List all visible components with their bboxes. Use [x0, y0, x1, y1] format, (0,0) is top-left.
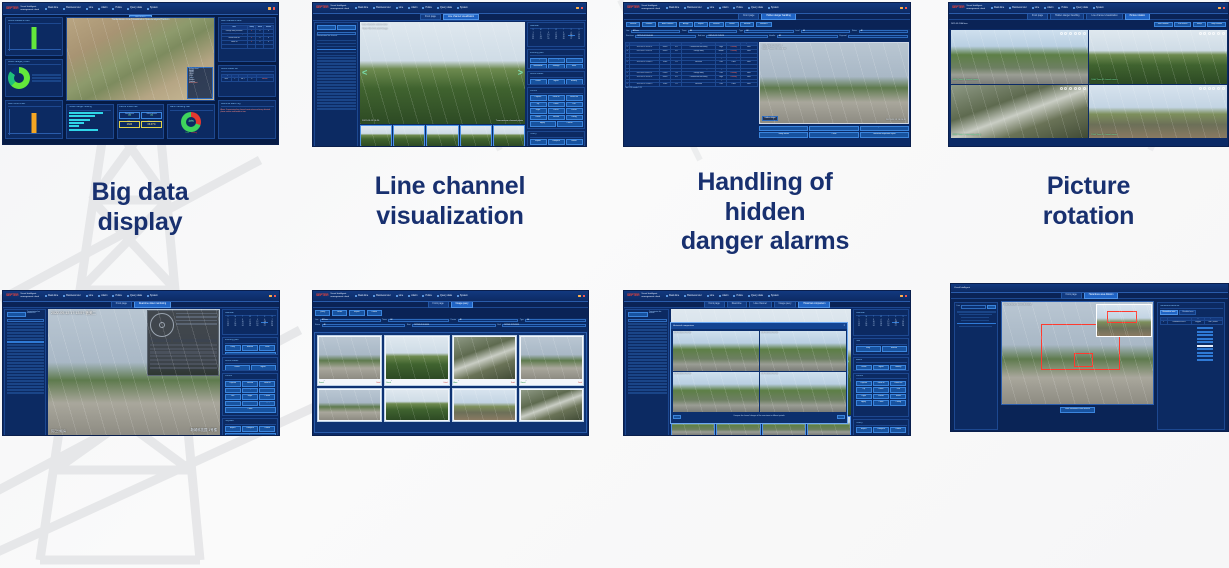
ctrl-btn-5[interactable]: Left — [890, 387, 906, 393]
ctrl-btn-8[interactable]: Reset — [890, 394, 906, 400]
ctrl-btn-11[interactable]: Config — [566, 115, 583, 121]
ctrl-btn-9[interactable]: Reset — [225, 401, 241, 407]
ctrl-btn-1[interactable]: Record — [242, 381, 258, 387]
picture-rotation-window[interactable]: SEPTER Visual Intelligentmanagement clou… — [948, 2, 1229, 147]
toolbar-btn-2[interactable]: Batch confirm — [658, 22, 678, 28]
ctrl-btn-6[interactable]: Right — [530, 108, 547, 114]
reference-thumbnail[interactable] — [1096, 304, 1152, 337]
main-nav[interactable]: Real-time Business tour Line Alarm Polic… — [45, 7, 268, 9]
ctrl-btn-13[interactable]: Cancel — [557, 121, 583, 127]
plan-btn-1[interactable]: Weekly — [548, 58, 565, 64]
hazard-area-table[interactable]: No. Area name Type Operation 1 Hazardous… — [1160, 317, 1223, 325]
nav-item-0[interactable]: Real-time — [355, 7, 368, 9]
alarm-stats-table[interactable]: Item Today Week Month Foreign body intru… — [221, 25, 274, 48]
card-thumbnail[interactable] — [386, 337, 447, 379]
ctrl-btn-6[interactable]: Right — [856, 394, 872, 400]
nav-item-2[interactable]: Line — [707, 295, 715, 297]
main-nav[interactable]: Real-time Business tour Line Alarm Polic… — [45, 295, 269, 297]
tab-image-query[interactable]: Image query — [774, 301, 797, 307]
ctrl-btn-1[interactable]: Zoom in — [873, 381, 889, 387]
nav-item-4[interactable]: Police — [112, 295, 122, 297]
nav-item-2[interactable]: Line — [86, 7, 94, 9]
plan-btn-1[interactable]: Manual — [242, 345, 258, 351]
nav-item-5[interactable]: Query data — [437, 7, 452, 9]
ctrl-btn-8[interactable]: Preset — [566, 108, 583, 114]
filmstrip-thumb[interactable] — [460, 125, 492, 147]
panel-control[interactable]: Control Capture Zoom in Zoom out Up Down… — [527, 87, 585, 129]
rotation-toolbar[interactable]: 2022-09-13 All lines Start rotation Full… — [949, 20, 1228, 29]
calendar-grid[interactable]: SMTWTFS 1234567 891011121314 15161718192… — [530, 30, 583, 41]
tab-line-channel[interactable]: Line channel — [749, 301, 772, 307]
card-tag-detail[interactable]: Detail — [444, 383, 448, 385]
toolbar-btn-6[interactable]: Delete — [725, 22, 738, 28]
pb-btn-3[interactable]: Snapshot — [225, 433, 276, 436]
hist-btn-0[interactable]: Export — [530, 139, 547, 145]
panel-device-status[interactable]: Device status Online Signal Battery — [527, 71, 585, 85]
control-buttons[interactable]: Capture Zoom in Zoom out Up Down Left Ri… — [856, 381, 907, 406]
ctrl-btn-12[interactable]: Apply — [530, 121, 556, 127]
area-division-canvas[interactable]: Hazardous area division — [1001, 301, 1154, 405]
channel-tree-sidebar[interactable]: All Transmission line channel — [625, 309, 669, 436]
control-buttons[interactable]: Capture Record Zoom in Zoom out Up Down … — [225, 381, 276, 413]
ctrl-btn-8[interactable]: Preset — [259, 394, 275, 400]
pb-btn-2[interactable]: Delete — [259, 426, 275, 432]
nav-item-1[interactable]: Business tour — [684, 7, 701, 9]
card-line-channel-visualization[interactable]: SEPTER Visual Intelligentmanagement clou… — [310, 0, 620, 284]
main-nav[interactable]: Real-time Business tour Line Alarm Polic… — [666, 295, 900, 297]
sidebar-btn-all[interactable]: All — [7, 312, 26, 318]
image-card[interactable]: Guangxi No.1 line 500kV tower site Shoot… — [519, 335, 584, 387]
tab-front-page[interactable]: Front page — [1027, 13, 1048, 19]
tab-line-channel[interactable]: Line channel visualization — [1086, 13, 1122, 19]
ctrl-btn-6[interactable]: Left — [225, 394, 241, 400]
channel-image-viewer[interactable]: Line channel camera view Tower No.3 chan… — [360, 22, 525, 124]
ctrl-btn-5[interactable]: Left — [566, 102, 583, 108]
history-buttons[interactable]: Export Compare Delete — [530, 139, 583, 145]
search-input[interactable] — [628, 319, 667, 322]
toolbar-btn-1[interactable]: Dismiss — [642, 22, 657, 28]
video-tile[interactable]: 500kV Tower 02 channel camera — [1089, 30, 1226, 83]
map-legend[interactable]: Voltage level 500kV 220kV 110kV 35kV Tow… — [187, 67, 213, 99]
card-hidden-danger-alarm-handling[interactable]: SEPTER Visual Intelligentmanagement clou… — [620, 0, 930, 284]
channel-viewer-window[interactable]: SEPTER Visual Intelligentmanagement clou… — [312, 2, 587, 147]
device-status-table[interactable]: Voltage Line Tower Status Current state … — [221, 74, 274, 82]
panel-alarm-statistics-table[interactable]: Alarm statistics table Item Today Week M… — [218, 17, 276, 62]
plan-btn-3[interactable]: Cancel — [225, 352, 276, 356]
nav-item-5[interactable]: Query data — [748, 7, 763, 9]
plan-btn-2[interactable]: Save — [259, 345, 275, 351]
tabbar[interactable]: Front page Line channel visualization — [313, 14, 586, 21]
ctrl-btn-3[interactable]: Up — [530, 102, 547, 108]
card-tag-detail[interactable]: Detail — [578, 383, 582, 385]
image-card[interactable]: Guangxi line 500kV tower Shoot time: 202… — [452, 335, 517, 387]
nav-item-5[interactable]: Query data — [748, 295, 763, 297]
tab-historical-comparison[interactable]: Historical comparison — [798, 301, 830, 307]
tab-line-channel-visualization[interactable]: Line channel visualization — [443, 14, 479, 20]
panel-device-status-list[interactable]: Device status list Voltage Line Tower St… — [218, 65, 276, 97]
card-historical-comparison[interactable]: SEPTER Visual Intelligentmanagement clou… — [620, 284, 930, 568]
live-video-canvas[interactable]: 2022-09-13 17:13:57 盖美二 荒己分机房 新城科技园 1号楼 — [48, 309, 220, 436]
ptz-sliders[interactable] — [176, 313, 217, 337]
plan-buttons[interactable]: Daily Manual Save Cancel — [225, 345, 276, 355]
filter-row-1[interactable]: Line All lines Tower All Device All Type… — [315, 319, 586, 322]
panel-realtime-alarm-log[interactable]: Real-time alarm log Alarm: Transmission … — [218, 100, 276, 139]
search-input[interactable] — [961, 305, 986, 308]
panel-plan[interactable]: Plan Daily Manual — [853, 338, 909, 355]
ctrl-btn-10[interactable]: Restart — [548, 115, 565, 121]
card-big-data-display[interactable]: SEPTER Visual Intelligentmanagement clou… — [0, 0, 310, 284]
sidebar-btn-filter[interactable]: Filter — [337, 25, 356, 31]
panel-playback[interactable]: Playback Export Compare Delete Snapshot — [222, 418, 278, 436]
nav-item-5[interactable]: Query data — [127, 7, 142, 9]
footer-btn-3[interactable]: Notify owner — [759, 132, 808, 138]
main-nav[interactable]: Real-time Business tour Line Alarm Polic… — [666, 7, 900, 9]
nav-item-3[interactable]: Alarm — [98, 295, 107, 297]
toolbar-btn-3[interactable]: Assign — [679, 22, 693, 28]
video-tile[interactable]: 110kV Tower 21 channel camera — [1089, 85, 1226, 138]
plan-buttons[interactable]: Daily Manual — [856, 346, 907, 352]
nav-item-6[interactable]: System — [768, 7, 779, 9]
nav-item-6[interactable]: System — [147, 295, 158, 297]
main-nav[interactable]: Real-time Business tour Line Alarm Polic… — [355, 7, 576, 9]
plan-btn-0[interactable]: Daily — [225, 345, 241, 351]
tab-hazardous-area-division[interactable]: Hazardous area division — [1084, 292, 1119, 298]
toolbar-btn-0[interactable]: Review — [626, 22, 640, 28]
nav-item-4[interactable]: Police — [422, 7, 432, 9]
map-panel[interactable]: Transmission Line Visualization Data Ana… — [66, 17, 215, 101]
prev-page-button[interactable]: << — [673, 415, 681, 420]
channel-tree[interactable] — [628, 323, 667, 393]
footer-btn-2[interactable]: Dispatch work order — [860, 126, 909, 132]
panel-device-online-rate[interactable]: Device online rate Total devices 78 On — [117, 104, 165, 139]
image-card[interactable]: Guangxi line 220kV Shoot time: 2022-09-1… — [384, 335, 449, 387]
screenshot-hazardous-area-division[interactable]: Visual Intelligent Front page Hazardous … — [950, 283, 1229, 432]
panel-status[interactable]: Status Online Signal Battery — [853, 357, 909, 371]
ctrl-btn-3[interactable]: Up — [856, 387, 872, 393]
nav-item-1[interactable]: Business tour — [1009, 7, 1026, 9]
card-picture-rotation[interactable]: SEPTER Visual Intelligentmanagement clou… — [930, 0, 1229, 284]
card-thumbnail[interactable] — [521, 337, 582, 379]
status-btn-0[interactable]: Online — [530, 79, 547, 85]
ptz-preset-list[interactable] — [150, 344, 217, 369]
nav-item-5[interactable]: Query data — [1073, 7, 1088, 9]
image-card[interactable] — [317, 388, 382, 422]
status-btn-1[interactable]: Signal — [548, 79, 565, 85]
status-buttons[interactable]: Online Signal Battery — [530, 79, 583, 85]
comparison-modal[interactable]: Historical comparison × 2022-06-13 10:02… — [670, 322, 848, 424]
filter-value[interactable] — [848, 35, 908, 38]
main-nav[interactable]: Real-time Business tour Line Alarm Polic… — [355, 295, 578, 297]
next-image-arrow[interactable]: > — [518, 69, 523, 78]
topbar-status-icons[interactable] — [578, 295, 585, 298]
channel-tree-sidebar[interactable]: All Filter Transmission line channel — [314, 22, 358, 147]
nav-item-6[interactable]: System — [768, 295, 779, 297]
hazard-region-secondary[interactable] — [1074, 353, 1092, 367]
panel-history[interactable]: History Export Compare Delete — [853, 419, 909, 436]
panel-control[interactable]: Control Capture Record Zoom in Zoom out … — [222, 373, 278, 416]
tab-real-time[interactable]: Real-time — [727, 301, 747, 307]
plan-btn-3[interactable]: Immediate — [530, 64, 547, 69]
footer-btn-5[interactable]: Generate inspection report — [860, 132, 909, 138]
topbar-status-icons[interactable] — [268, 7, 275, 10]
stop-rotation-button[interactable]: Stop rotation — [1207, 22, 1226, 28]
ctrl-btn-7[interactable]: Focus — [548, 108, 565, 114]
ctrl-btn-2[interactable]: Zoom out — [566, 95, 583, 101]
tab-hazardous-area[interactable]: Hazardous area — [1160, 310, 1179, 315]
topbar-status-icons[interactable] — [269, 295, 276, 298]
nav-item-3[interactable]: Alarm — [1044, 7, 1053, 9]
query-button[interactable]: Query — [315, 310, 330, 316]
ctrl-btn-10[interactable]: Close — [873, 400, 889, 406]
card-tag-detail[interactable]: Detail — [511, 383, 515, 385]
tab-front-page[interactable]: Front page — [428, 301, 449, 307]
nav-item-1[interactable]: Business tour — [684, 295, 701, 297]
region-point-list[interactable] — [1197, 327, 1213, 361]
pb-btn-1[interactable]: Compare — [242, 426, 258, 432]
nav-item-3[interactable]: Alarm — [719, 295, 728, 297]
plan-btn-0[interactable]: Daily — [530, 58, 547, 64]
image-card[interactable] — [519, 388, 584, 422]
image-card[interactable] — [452, 388, 517, 422]
topbar-status-icons[interactable] — [900, 295, 907, 298]
ctrl-btn-2[interactable]: Zoom out — [890, 381, 906, 387]
nav-item-1[interactable]: Business tour — [373, 295, 390, 297]
tab-front-page[interactable]: Front page — [738, 13, 759, 19]
screenshot-historical-comparison[interactable]: SEPTER Visual Intelligentmanagement clou… — [623, 290, 911, 436]
ctrl-btn-5[interactable]: Down — [259, 388, 275, 394]
toolbar-btn-7[interactable]: Archive — [740, 22, 754, 28]
panel-history[interactable]: History Export Compare Delete — [527, 131, 585, 147]
nav-item-4[interactable]: Police — [733, 7, 743, 9]
hist-btn-1[interactable]: Compare — [873, 427, 889, 433]
ctrl-btn-1[interactable]: Zoom in — [548, 95, 565, 101]
search-button[interactable]: Go — [987, 305, 996, 310]
toolbar-btn-4[interactable]: Export — [694, 22, 707, 28]
card-live-video[interactable]: SEPTER Visual Intelligentmanagement clou… — [0, 284, 310, 568]
camera-controls[interactable] — [1199, 87, 1225, 90]
delete-button[interactable]: Delete — [367, 310, 382, 316]
ctrl-btn-2[interactable]: Zoom in — [259, 381, 275, 387]
panel-alarm-handling-rate[interactable]: Alarm handling rate Online 66.67% Done — [167, 104, 215, 139]
compare-tile[interactable]: 2022-06-13 10:02 — [673, 331, 759, 371]
line-sidebar[interactable]: Line Go — [954, 302, 998, 430]
image-card[interactable] — [384, 388, 449, 422]
footer-btn-0[interactable]: Confirm alarm — [759, 126, 808, 132]
preview-footer-buttons[interactable]: Confirm alarm Mark as false alarm Dispat… — [759, 126, 909, 138]
sidebar-btn-all[interactable]: All — [317, 25, 336, 31]
sidebar-toolbar[interactable]: All Transmission line channel — [628, 312, 667, 318]
status-btn-2[interactable]: Battery — [566, 79, 583, 85]
sidebar-search-row[interactable]: Line Go — [957, 305, 996, 310]
footer-btn-4[interactable]: Close — [809, 132, 858, 138]
nav-item-1[interactable]: Business tour — [373, 7, 390, 9]
filter-row-1[interactable]: Line All lines Tower All Type All Level … — [626, 30, 908, 33]
sidebar-toolbar[interactable]: All Filter — [317, 25, 356, 31]
tab-hidden-danger-handling[interactable]: Hidden danger handling — [761, 13, 795, 19]
ctrl-btn-12[interactable]: Close — [225, 407, 276, 413]
line-tree[interactable] — [957, 311, 996, 328]
alarm-table-wrap[interactable]: ☐ Alarm timeLine TowerAlarm type LevelSt… — [625, 42, 758, 138]
video-tile[interactable]: 500kV Tower 01 channel camera — [951, 30, 1088, 83]
screenshot-picture-rotation[interactable]: SEPTER Visual Intelligentmanagement clou… — [948, 2, 1229, 147]
playback-buttons[interactable]: Export Compare Delete Snapshot — [225, 426, 276, 436]
screenshot-line-channel-visualization[interactable]: SEPTER Visual Intelligentmanagement clou… — [312, 2, 587, 147]
hazard-area-list-panel[interactable]: Hazardous area list Hazardous area Shiel… — [1157, 302, 1225, 430]
history-buttons[interactable]: Export Compare Delete — [856, 427, 907, 433]
nav-item-4[interactable]: Police — [1058, 7, 1068, 9]
ctrl-btn-9[interactable]: Reset — [530, 115, 547, 121]
card-thumbnail[interactable] — [454, 390, 515, 420]
channel-tree-sidebar[interactable]: All Transmission line channel list — [4, 309, 46, 436]
ctrl-btn-0[interactable]: Capture — [225, 381, 241, 387]
calendar-grid[interactable]: SMTWTFS 1234567 891011121314 15161718192… — [856, 317, 907, 328]
filmstrip-thumb[interactable] — [393, 125, 425, 147]
nav-item-6[interactable]: System — [457, 295, 468, 297]
nav-item-0[interactable]: Real-time — [45, 295, 58, 297]
panel-alarm-trend[interactable]: Alarm trend chart — [5, 100, 63, 139]
toolbar-btn-5[interactable]: Refresh — [709, 22, 724, 28]
nav-item-0[interactable]: Real-time — [355, 295, 368, 297]
ctrl-btn-9[interactable]: Apply — [856, 400, 872, 406]
hist-btn-2[interactable]: Delete — [890, 427, 906, 433]
image-query-window[interactable]: SEPTER Visual Intelligentmanagement clou… — [312, 290, 589, 436]
status-buttons[interactable]: Online Signal Battery — [856, 365, 907, 371]
ptz-buttons[interactable] — [150, 339, 217, 342]
panel-device-status[interactable]: Device status Online Signal — [222, 357, 278, 371]
status-btn-1[interactable]: Signal — [251, 365, 276, 370]
pb-btn-0[interactable]: Export — [225, 426, 241, 432]
main-nav[interactable]: Real-time Business tour Line Alarm Polic… — [991, 7, 1218, 9]
image-card[interactable]: Guangxi No.1 line 500kV tower site Shoot… — [317, 335, 382, 387]
card-tag-detail[interactable]: Detail — [376, 383, 380, 385]
nav-item-4[interactable]: Police — [112, 7, 122, 9]
footer-btn-1[interactable]: Mark as false alarm — [809, 126, 858, 132]
toolbar-btn-8[interactable]: Statistics — [756, 22, 772, 28]
pagination[interactable]: Total 128 records 1/13 — [625, 88, 758, 90]
filmstrip-thumb[interactable] — [360, 125, 392, 147]
panel-shooting-plan[interactable]: Shooting plan Daily Manual Save Cancel — [222, 337, 278, 355]
ctrl-btn-11[interactable]: Config — [890, 400, 906, 406]
video-tile[interactable]: 220kV Tower 11 tower body camera — [951, 85, 1088, 138]
calendar-grid[interactable]: SMTWTFS 1234567 891011121314 15161718192… — [225, 317, 276, 328]
ctrl-btn-4[interactable]: Up — [242, 388, 258, 394]
filmstrip-thumb[interactable] — [426, 125, 458, 147]
nav-item-2[interactable]: Line — [396, 295, 404, 297]
card-thumbnail[interactable] — [386, 390, 447, 420]
channel-tree[interactable] — [7, 323, 44, 393]
tab-real-time-video[interactable]: Real-time video monitoring — [134, 301, 171, 307]
filmstrip[interactable] — [360, 125, 525, 147]
tab-hidden-danger[interactable]: Hidden danger handling — [1050, 13, 1084, 19]
nav-item-4[interactable]: Police — [422, 295, 432, 297]
ctrl-btn-7[interactable]: Preset — [873, 394, 889, 400]
plan-buttons[interactable]: Daily Weekly Manual Immediate Settings S… — [530, 58, 583, 69]
modal-footer[interactable]: << Compare the channel changes of the sa… — [671, 413, 847, 421]
nav-item-4[interactable]: Police — [733, 295, 743, 297]
alarm-filters[interactable]: Line All lines Tower All Type All Level … — [624, 29, 910, 41]
tab-front-page[interactable]: Front page — [111, 301, 132, 307]
nav-item-6[interactable]: System — [457, 7, 468, 9]
topbar-status-icons[interactable] — [576, 7, 583, 10]
fullscreen-button[interactable]: Full screen — [1174, 22, 1191, 28]
compare-tile[interactable]: 2022-09-13 10:04 — [760, 372, 846, 412]
ptz-joystick[interactable] — [150, 313, 174, 337]
card-thumbnail[interactable] — [521, 390, 582, 420]
topbar-status-icons[interactable] — [900, 7, 907, 10]
prev-image-arrow[interactable]: < — [362, 69, 367, 78]
card-thumbnail[interactable] — [319, 337, 380, 379]
card-hazardous-area-division[interactable]: Visual Intelligent Front page Hazardous … — [930, 284, 1229, 568]
area-division-window[interactable]: Visual Intelligent Front page Hazardous … — [950, 283, 1229, 432]
screenshot-big-data-display[interactable]: SEPTER Visual Intelligentmanagement clou… — [2, 2, 279, 145]
alarm-preview-image[interactable]: 2022-09-13 16:20:11 500kV Tower 01 chann… — [759, 42, 909, 125]
panel-control[interactable]: Control Capture Zoom in Zoom out Up Down… — [853, 373, 909, 418]
query-filters[interactable]: Line All lines Tower All Device All Type… — [313, 318, 588, 331]
ptz-panel[interactable] — [147, 310, 219, 376]
card-thumbnail[interactable] — [319, 390, 380, 420]
nav-item-3[interactable]: Alarm — [408, 295, 417, 297]
nav-item-3[interactable]: Alarm — [408, 7, 417, 9]
screenshot-image-query[interactable]: SEPTER Visual Intelligentmanagement clou… — [312, 290, 589, 436]
panel-calendar[interactable]: Calendar SMTWTFS 1234567 891011121314 15… — [527, 22, 585, 47]
alarm-table[interactable]: ☐ Alarm timeLine TowerAlarm type LevelSt… — [625, 42, 758, 87]
nav-item-3[interactable]: Alarm — [719, 7, 728, 9]
panel-shooting-plan[interactable]: Shooting plan Daily Weekly Manual Immedi… — [527, 49, 585, 69]
next-page-button[interactable]: >> — [837, 415, 845, 420]
alarm-toolbar[interactable]: Review Dismiss Batch confirm Assign Expo… — [624, 20, 910, 29]
panel-tabs[interactable]: Hazardous area Shielded area — [1160, 310, 1223, 315]
sidebar-toolbar[interactable]: All Transmission line channel list — [7, 312, 44, 318]
search-input[interactable] — [7, 319, 44, 322]
nav-item-0[interactable]: Real-time — [666, 295, 679, 297]
status-btn-0[interactable]: Online — [225, 365, 250, 370]
tab-shielded-area[interactable]: Shielded area — [1179, 310, 1196, 315]
live-video-window[interactable]: SEPTER Visual Intelligentmanagement clou… — [2, 290, 280, 436]
ctrl-btn-3[interactable]: Zoom out — [225, 388, 241, 394]
plan-btn-2[interactable]: Manual — [566, 58, 583, 64]
nav-item-6[interactable]: System — [1093, 7, 1104, 9]
alarm-handling-window[interactable]: SEPTER Visual Intelligentmanagement clou… — [623, 2, 911, 147]
history-compare-window[interactable]: SEPTER Visual Intelligentmanagement clou… — [623, 290, 911, 436]
nav-item-5[interactable]: Query data — [437, 295, 452, 297]
rotation-buttons[interactable]: Start rotation Full screen Setup Stop ro… — [1154, 22, 1226, 28]
nav-item-2[interactable]: Line — [396, 7, 404, 9]
export-button[interactable]: Export — [349, 310, 364, 316]
filmstrip-thumb[interactable] — [493, 125, 525, 147]
compare-tile[interactable]: 2022-07-13 10:05 — [760, 331, 846, 371]
filter-row-2[interactable]: Status All Start 2022-09-01 00:00:00 End… — [315, 324, 586, 327]
panel-hidden-danger-ranking[interactable]: Hidden danger ranking — [66, 104, 114, 139]
start-rotation-button[interactable]: Start rotation — [1154, 22, 1173, 28]
camera-controls[interactable] — [1199, 32, 1225, 35]
ctrl-btn-10[interactable]: Restart — [242, 401, 258, 407]
plan-btn-5[interactable]: Save — [566, 64, 583, 69]
screenshot-hidden-danger-handling[interactable]: SEPTER Visual Intelligentmanagement clou… — [623, 2, 911, 147]
status-buttons[interactable]: Online Signal — [225, 365, 276, 370]
camera-controls[interactable] — [1060, 32, 1086, 35]
tab-front-page[interactable]: Front page — [1061, 292, 1082, 298]
tab-front-page[interactable]: Front page — [420, 14, 441, 20]
nav-item-2[interactable]: Line — [707, 7, 715, 9]
channel-tree[interactable] — [317, 40, 356, 110]
camera-controls[interactable] — [1060, 87, 1086, 90]
setup-button[interactable]: Setup — [1193, 22, 1206, 28]
screenshot-live-video[interactable]: SEPTER Visual Intelligentmanagement clou… — [2, 290, 280, 436]
nav-item-5[interactable]: Query data — [127, 295, 142, 297]
nav-item-2[interactable]: Line — [1032, 7, 1040, 9]
close-icon[interactable]: × — [844, 325, 845, 327]
status-btn-2[interactable]: Battery — [890, 365, 906, 371]
